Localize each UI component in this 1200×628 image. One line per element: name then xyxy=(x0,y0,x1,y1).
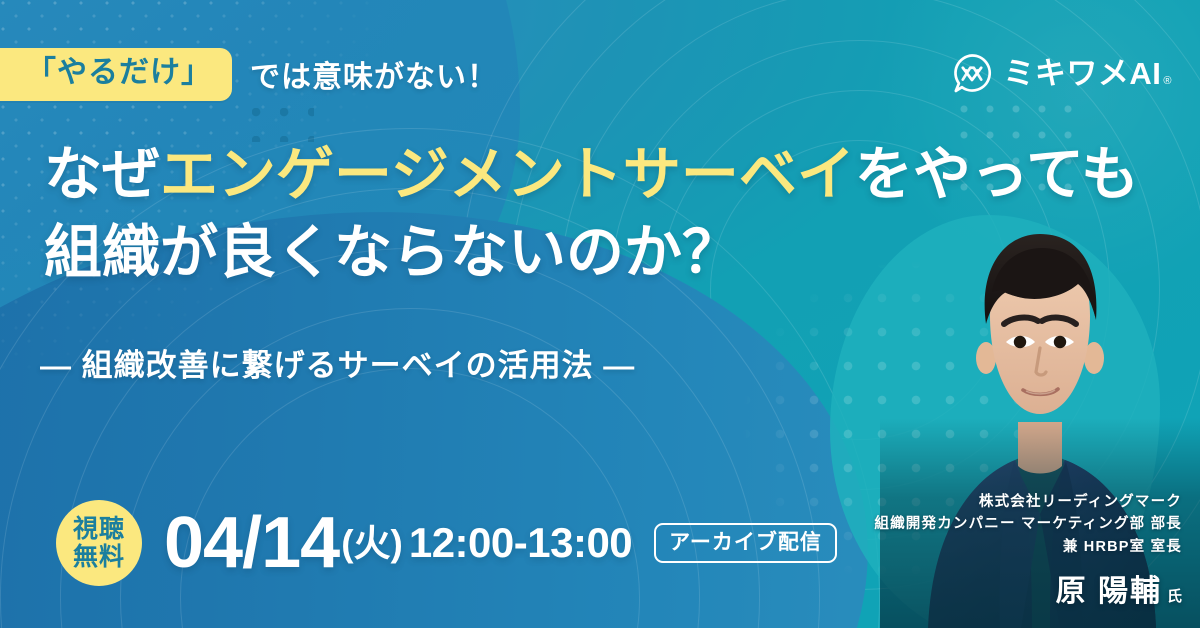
registered-mark: ® xyxy=(1163,76,1172,87)
headline: なぜエンゲージメントサーベイをやっても 組織が良くならないのか？ xyxy=(44,136,1139,291)
headline-line1-part2: をやっても xyxy=(855,142,1139,207)
speaker-org-line-1: 株式会社リーディングマーク xyxy=(874,491,1182,513)
brand-logo-text: ミキワメAI ® xyxy=(1003,58,1172,89)
speaker-name-suffix: 氏 xyxy=(1167,588,1182,605)
eyebrow: 「やるだけ」 では意味がない！ xyxy=(0,48,498,101)
event-time: 12:00-13:00 xyxy=(409,522,632,564)
event-schedule: 視聴 無料 04/14 (火) 12:00-13:00 アーカイブ配信 xyxy=(56,500,837,586)
speaker-org-line-2: 組織開発カンパニー マーケティング部 部長 xyxy=(874,513,1182,535)
speaker-info: 株式会社リーディングマーク 組織開発カンパニー マーケティング部 部長 兼 HR… xyxy=(874,491,1182,610)
event-day-of-week: (火) xyxy=(341,525,403,562)
event-date: 04/14 xyxy=(164,507,339,579)
eyebrow-badge: 「やるだけ」 xyxy=(0,48,232,101)
mikiwame-speech-bubble-face-icon xyxy=(951,52,993,94)
free-badge-line-2: 無料 xyxy=(73,543,125,571)
brand-logo-wordmark: ミキワメAI xyxy=(1003,58,1161,89)
brand-logo[interactable]: ミキワメAI ® xyxy=(951,52,1172,94)
headline-line-2: 組織が良くならないのか？ xyxy=(44,214,1139,292)
headline-line1-part1: なぜ xyxy=(44,142,160,207)
archive-delivery-badge: アーカイブ配信 xyxy=(654,523,837,563)
speaker-name-row: 原 陽輔氏 xyxy=(874,566,1182,610)
headline-line-1: なぜエンゲージメントサーベイをやっても xyxy=(44,136,1139,214)
eyebrow-text: では意味がない！ xyxy=(250,52,498,96)
speaker-org-line-3: 兼 HRBP室 室長 xyxy=(874,536,1182,558)
headline-line1-accent: エンゲージメントサーベイ xyxy=(160,142,855,207)
free-badge-line-1: 視聴 xyxy=(73,515,125,543)
webinar-banner: ミキワメAI ® 「やるだけ」 では意味がない！ なぜエンゲージメントサーベイを… xyxy=(0,0,1200,628)
speaker-organization: 株式会社リーディングマーク 組織開発カンパニー マーケティング部 部長 兼 HR… xyxy=(874,491,1182,558)
speaker-name: 原 陽輔 xyxy=(1056,575,1162,608)
subheadline: ― 組織改善に繋げるサーベイの活用法 ― xyxy=(40,340,635,385)
free-viewing-badge: 視聴 無料 xyxy=(56,500,142,586)
